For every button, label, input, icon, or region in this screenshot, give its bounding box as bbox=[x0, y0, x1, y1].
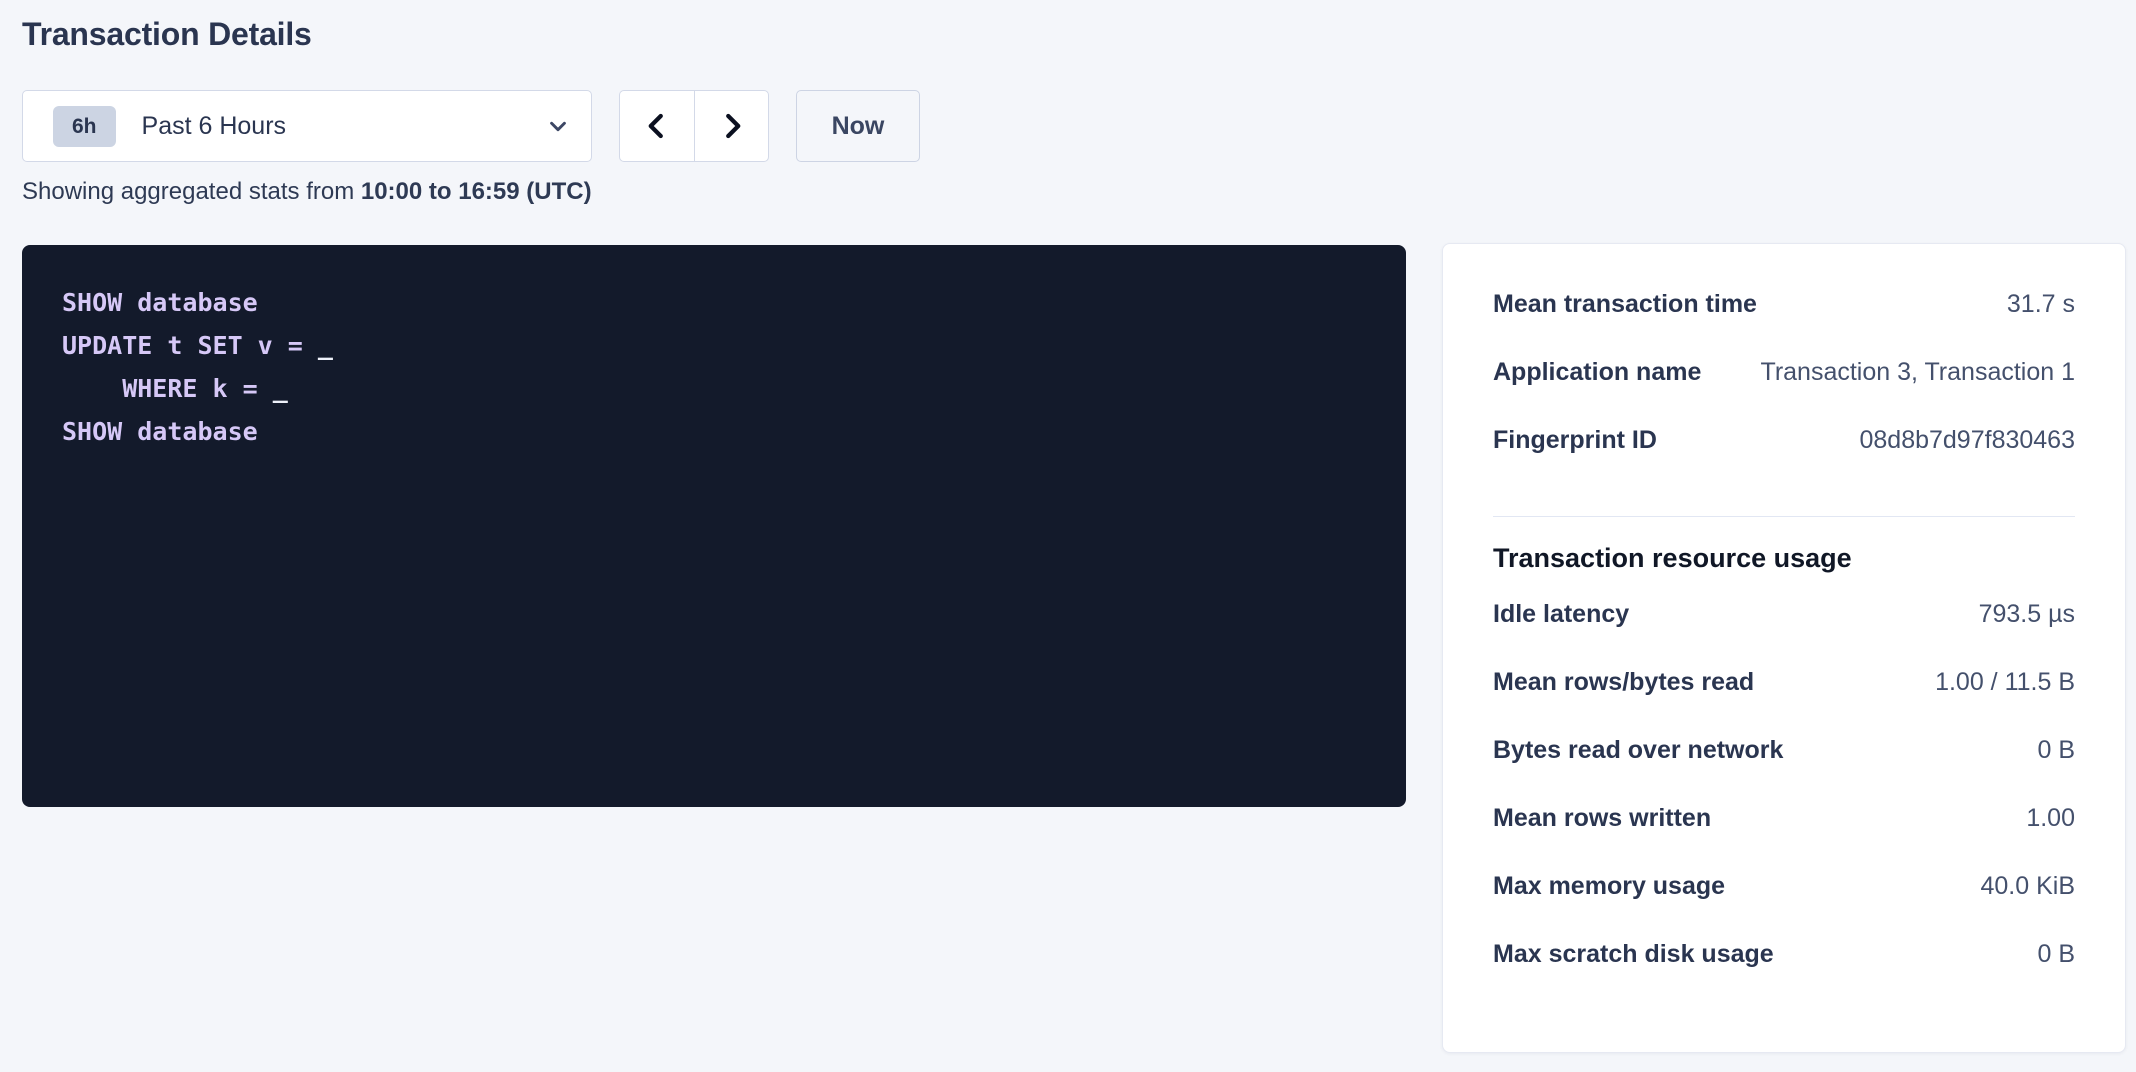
sql-line: UPDATE t SET v = _ bbox=[62, 324, 1366, 367]
transaction-detail-card: Mean transaction time31.7 sApplication n… bbox=[1442, 243, 2126, 1053]
sql-line: SHOW database bbox=[62, 281, 1366, 324]
page-title: Transaction Details bbox=[22, 16, 312, 53]
next-period-button[interactable] bbox=[694, 90, 769, 162]
stat-label: Idle latency bbox=[1493, 600, 1629, 629]
stat-value: 08d8b7d97f830463 bbox=[1859, 426, 2075, 455]
stat-value: 0 B bbox=[2037, 736, 2075, 765]
aggregation-range-value: 10:00 to 16:59 (UTC) bbox=[361, 178, 592, 205]
overview-stats-list: Mean transaction time31.7 sApplication n… bbox=[1493, 290, 2075, 494]
time-range-toolbar: 6h Past 6 Hours bbox=[22, 90, 920, 162]
resource-stat-row: Idle latency793.5 µs bbox=[1493, 600, 2075, 668]
stat-label: Max scratch disk usage bbox=[1493, 940, 1774, 969]
transaction-details-page: Transaction Details 6h Past 6 Hours bbox=[0, 0, 2136, 1072]
resource-stat-row: Mean rows written1.00 bbox=[1493, 804, 2075, 872]
stat-label: Mean rows written bbox=[1493, 804, 1711, 833]
aggregation-range-text: Showing aggregated stats from 10:00 to 1… bbox=[22, 178, 592, 206]
stat-value: 40.0 KiB bbox=[1980, 872, 2075, 901]
sql-keyword-token: UPDATE t SET v = bbox=[62, 331, 318, 360]
resource-stat-row: Max memory usage40.0 KiB bbox=[1493, 872, 2075, 940]
stat-label: Mean rows/bytes read bbox=[1493, 668, 1754, 697]
stat-label: Fingerprint ID bbox=[1493, 426, 1657, 455]
stat-label: Max memory usage bbox=[1493, 872, 1725, 901]
stat-label: Bytes read over network bbox=[1493, 736, 1783, 765]
chevron-down-icon bbox=[547, 115, 569, 137]
sql-placeholder-token: _ bbox=[273, 374, 288, 403]
sql-placeholder-token: _ bbox=[318, 331, 333, 360]
sql-statement-panel[interactable]: SHOW databaseUPDATE t SET v = _ WHERE k … bbox=[22, 245, 1406, 807]
sql-line: SHOW database bbox=[62, 410, 1366, 453]
time-range-dropdown[interactable]: 6h Past 6 Hours bbox=[22, 90, 592, 162]
stat-value: 1.00 / 11.5 B bbox=[1935, 668, 2075, 697]
overview-stat-row: Fingerprint ID08d8b7d97f830463 bbox=[1493, 426, 2075, 494]
sql-line: WHERE k = _ bbox=[62, 367, 1366, 410]
aggregation-range-prefix: Showing aggregated stats from bbox=[22, 178, 361, 205]
stat-value: 1.00 bbox=[2026, 804, 2075, 833]
resource-usage-title: Transaction resource usage bbox=[1493, 543, 2075, 574]
resource-stat-row: Bytes read over network0 B bbox=[1493, 736, 2075, 804]
sql-keyword-token: WHERE k = bbox=[62, 374, 273, 403]
overview-stat-row: Application nameTransaction 3, Transacti… bbox=[1493, 358, 2075, 426]
stat-value: 793.5 µs bbox=[1979, 600, 2075, 629]
sql-keyword-token: SHOW database bbox=[62, 288, 258, 317]
stat-value: 31.7 s bbox=[2007, 290, 2075, 319]
time-range-label: Past 6 Hours bbox=[142, 112, 547, 141]
stat-value: Transaction 3, Transaction 1 bbox=[1760, 358, 2075, 387]
stat-value: 0 B bbox=[2037, 940, 2075, 969]
previous-period-button[interactable] bbox=[619, 90, 694, 162]
sql-keyword-token: SHOW database bbox=[62, 417, 258, 446]
card-divider bbox=[1493, 516, 2075, 517]
chevron-right-icon bbox=[717, 111, 747, 141]
resource-stats-list: Idle latency793.5 µsMean rows/bytes read… bbox=[1493, 600, 2075, 1008]
chevron-left-icon bbox=[642, 111, 672, 141]
resource-stat-row: Mean rows/bytes read1.00 / 11.5 B bbox=[1493, 668, 2075, 736]
time-step-buttons bbox=[619, 90, 769, 162]
resource-stat-row: Max scratch disk usage0 B bbox=[1493, 940, 2075, 1008]
overview-stat-row: Mean transaction time31.7 s bbox=[1493, 290, 2075, 358]
stat-label: Application name bbox=[1493, 358, 1701, 387]
now-button[interactable]: Now bbox=[796, 90, 920, 162]
stat-label: Mean transaction time bbox=[1493, 290, 1757, 319]
sql-statement-text: SHOW databaseUPDATE t SET v = _ WHERE k … bbox=[62, 281, 1366, 453]
time-range-badge: 6h bbox=[53, 106, 116, 147]
